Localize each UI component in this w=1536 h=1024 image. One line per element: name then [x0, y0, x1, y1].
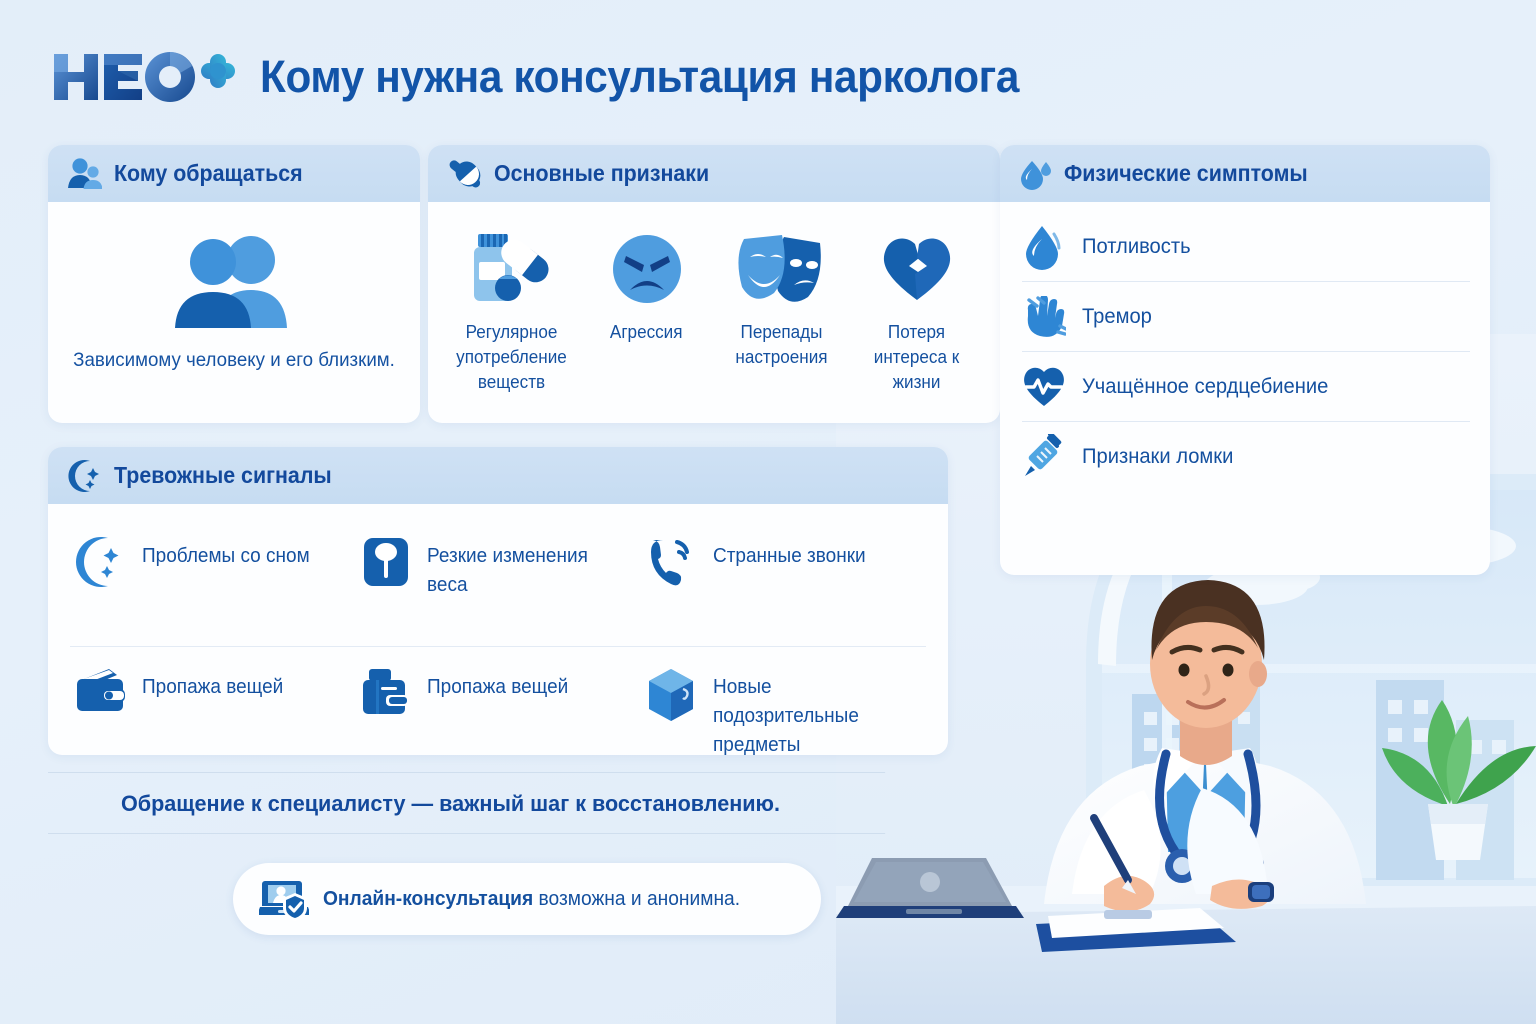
- audience-text: Зависимому человеку и его близким.: [73, 346, 396, 375]
- online-consultation-badge[interactable]: Онлайн-консультация возможна и анонимна.: [233, 863, 821, 935]
- warning-item: Пропажа вещей: [355, 647, 640, 755]
- phone-ringing-icon: [645, 534, 699, 588]
- main-signs-grid: Регулярное употребление веществ Агрессия: [446, 216, 982, 394]
- moon-stars-icon: [74, 534, 128, 588]
- card-audience-title: Кому обращаться: [114, 160, 303, 187]
- card-main-signs: Основные признаки: [428, 145, 1000, 423]
- online-consultation-rest: возможна и анонимна.: [533, 888, 740, 910]
- pill-bottle-icon: [468, 228, 556, 310]
- physical-label: Тремор: [1082, 303, 1152, 330]
- physical-row: Признаки ломки: [1022, 422, 1470, 492]
- card-physical-title: Физические симптомы: [1064, 160, 1308, 187]
- warning-item: Проблемы со сном: [70, 516, 355, 647]
- warning-label: Странные звонки: [713, 534, 866, 571]
- warning-grid: Проблемы со сном Резкие изменения веса: [70, 516, 926, 755]
- physical-label: Учащённое сердцебиение: [1082, 373, 1328, 400]
- warning-label: Резкие изменения веса: [427, 534, 616, 600]
- page-header: Кому нужна консультация нарколога: [52, 36, 1068, 118]
- card-warning-header: Тревожные сигналы: [48, 447, 948, 504]
- warning-item: Резкие изменения веса: [355, 516, 640, 647]
- sign-label: Перепады настроения: [719, 320, 843, 370]
- weight-scale-icon: [359, 534, 413, 588]
- card-main-signs-title: Основные признаки: [494, 160, 709, 187]
- users-icon: [68, 158, 102, 190]
- sign-item: Перепады настроения: [716, 228, 847, 394]
- pills-icon: [448, 158, 482, 190]
- physical-row: Тремор: [1022, 282, 1470, 352]
- laptop-verified-icon: [259, 877, 309, 921]
- sign-label: Регулярное употребление веществ: [449, 320, 573, 394]
- card-audience-header: Кому обращаться: [48, 145, 420, 202]
- online-consultation-strong: Онлайн-консультация: [323, 888, 533, 910]
- online-consultation-label: Онлайн-консультация возможна и анонимна.: [323, 888, 740, 911]
- warning-label: Новые подозрительные предметы: [713, 665, 902, 755]
- warning-item: Новые подозрительные предметы: [641, 647, 926, 755]
- card-physical-header: Физические симптомы: [1000, 145, 1490, 202]
- drop-icon: [1022, 224, 1066, 270]
- water-drops-icon: [1020, 158, 1052, 190]
- card-main-signs-header: Основные признаки: [428, 145, 1000, 202]
- sign-item: Потеря интереса к жизни: [851, 228, 982, 394]
- sign-item: Регулярное употребление веществ: [446, 228, 577, 394]
- syringe-icon: [1022, 434, 1066, 480]
- warning-label: Проблемы со сном: [142, 534, 310, 571]
- suspicious-box-icon: [645, 665, 699, 723]
- sign-label: Потеря интереса к жизни: [854, 320, 978, 394]
- wallet-icon: [74, 665, 128, 715]
- two-people-icon: [169, 234, 299, 330]
- card-warning-signals: Тревожные сигналы Проблемы со сном: [48, 447, 948, 755]
- angry-face-icon: [610, 228, 684, 310]
- warning-item: Пропажа вещей: [70, 647, 355, 755]
- footer-note: Обращение к специалисту — важный шаг к в…: [48, 772, 885, 834]
- card-audience: Кому обращаться Зависимому человеку и ег…: [48, 145, 420, 423]
- card-physical-symptoms: Физические симптомы Потливость: [1000, 145, 1490, 575]
- physical-row: Учащённое сердцебиение: [1022, 352, 1470, 422]
- trembling-hand-icon: [1022, 296, 1066, 338]
- physical-label: Потливость: [1082, 233, 1191, 260]
- moon-stars-icon: [68, 459, 102, 493]
- card-warning-title: Тревожные сигналы: [114, 462, 332, 489]
- physical-row: Потливость: [1022, 212, 1470, 282]
- theater-masks-icon: [738, 228, 826, 310]
- page-title: Кому нужна консультация нарколога: [260, 51, 1019, 103]
- heo-plus-logo: [52, 48, 242, 106]
- warning-label: Пропажа вещей: [427, 665, 568, 702]
- heart-pulse-icon: [1022, 366, 1066, 408]
- broken-heart-icon: [879, 228, 955, 310]
- warning-item: Странные звонки: [641, 516, 926, 647]
- physical-label: Признаки ломки: [1082, 443, 1233, 470]
- sign-label: Агрессия: [610, 320, 683, 345]
- audience-figure: [66, 234, 402, 330]
- warning-label: Пропажа вещей: [142, 665, 283, 702]
- sign-item: Агрессия: [581, 228, 712, 394]
- wallet-closed-icon: [359, 665, 413, 717]
